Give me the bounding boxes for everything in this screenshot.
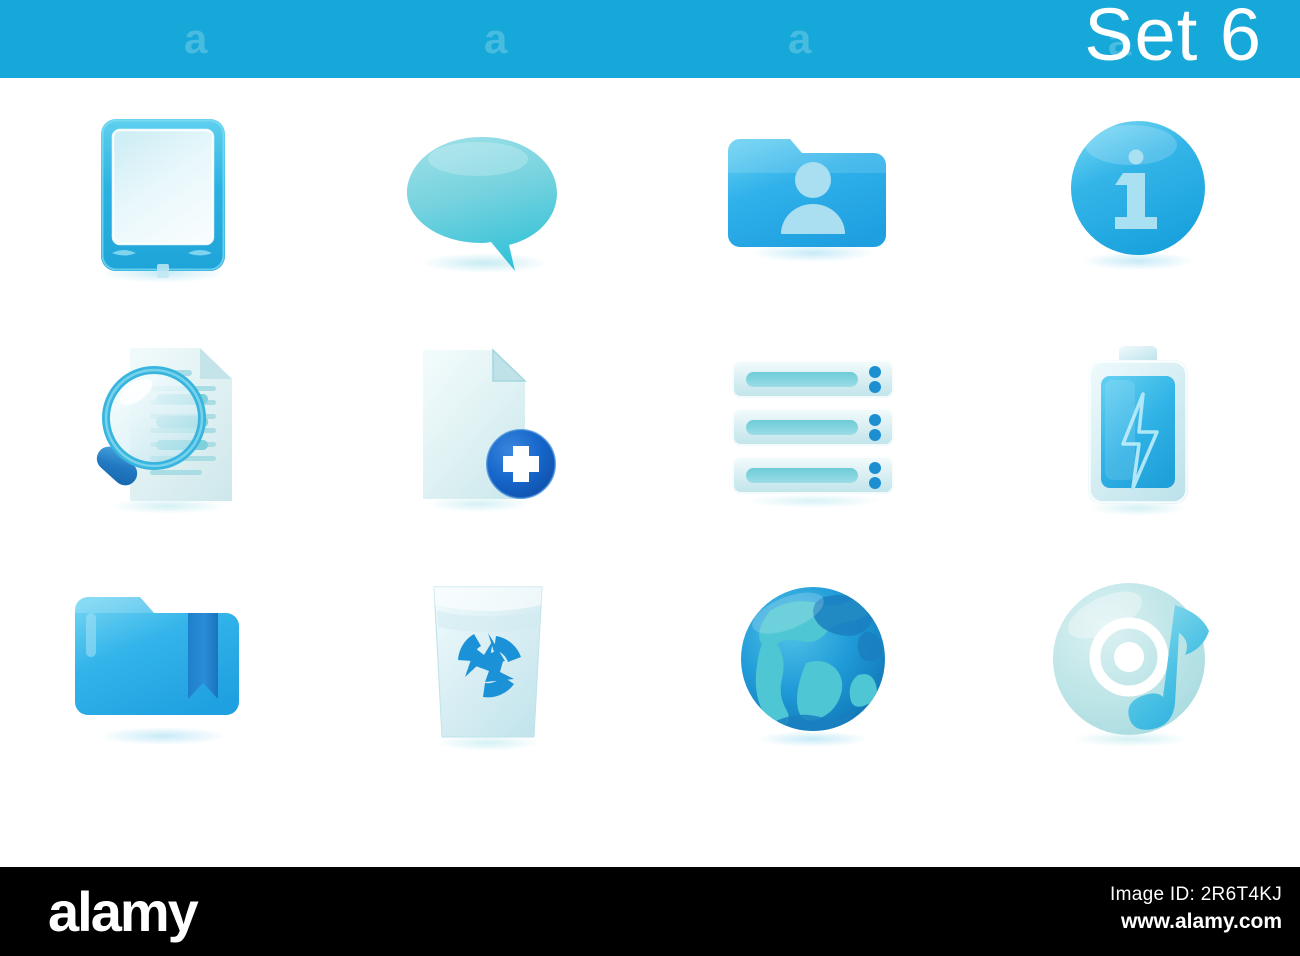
page-title: Set 6 [1084, 0, 1262, 74]
bookmark-folder-icon[interactable] [68, 571, 258, 761]
icon-cell [650, 313, 975, 548]
icon-cell [975, 78, 1300, 313]
icon-cell [325, 78, 650, 313]
header-bar: a a a a Set 6 [0, 0, 1300, 78]
icon-grid [0, 78, 1300, 798]
icon-cell [975, 313, 1300, 548]
document-search-icon[interactable] [68, 336, 258, 526]
icon-cell [650, 78, 975, 313]
icon-cell [650, 548, 975, 783]
alamy-watermark-letter: a [484, 18, 507, 60]
icon-cell [975, 548, 1300, 783]
icon-cell [0, 78, 325, 313]
new-document-icon[interactable] [393, 336, 583, 526]
battery-charge-icon[interactable] [1043, 336, 1233, 526]
user-folder-icon[interactable] [718, 101, 908, 291]
icon-cell [325, 313, 650, 548]
music-cd-icon[interactable] [1043, 571, 1233, 761]
speech-bubble-icon[interactable] [393, 101, 583, 291]
info-circle-icon[interactable] [1043, 101, 1233, 291]
alamy-watermark-letter: a [184, 18, 207, 60]
alamy-url-label: www.alamy.com [1121, 910, 1282, 934]
icon-set-poster: a a a a Set 6 [0, 0, 1300, 956]
server-stack-icon[interactable] [718, 336, 908, 526]
icon-cell [0, 313, 325, 548]
alamy-logo: alamy [48, 884, 197, 940]
alamy-watermark-letter: a [788, 18, 811, 60]
recycle-bin-icon[interactable] [393, 571, 583, 761]
icon-cell [325, 548, 650, 783]
globe-icon[interactable] [718, 571, 908, 761]
icon-cell [0, 548, 325, 783]
tablet-device-icon[interactable] [68, 101, 258, 291]
image-id-label: Image ID: 2R6T4KJ [1110, 884, 1282, 906]
